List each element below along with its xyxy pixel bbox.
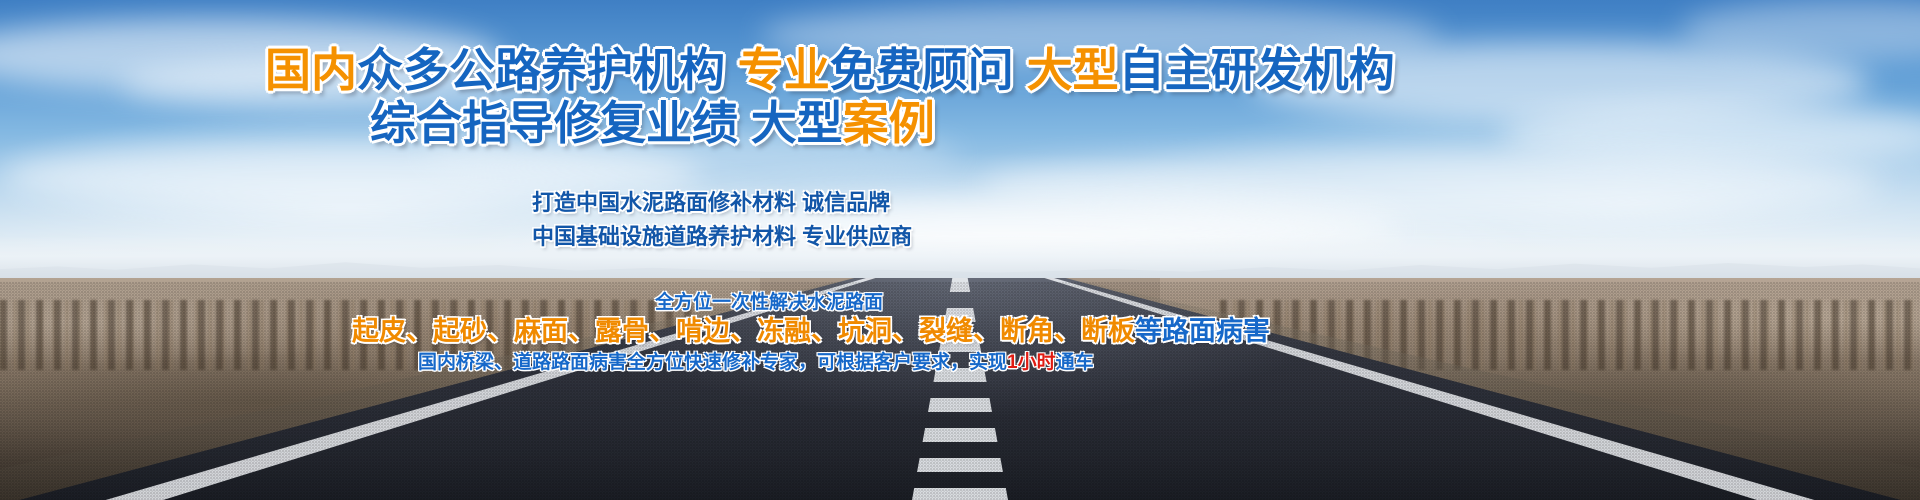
bottom-line-2: 起皮、起砂、麻面、露骨、啃边、冻融、坑洞、裂缝、断角、断板等路面病害 (352, 318, 1270, 345)
bottom-line-3: 国内桥梁、道路路面病害全方位快速修补专家，可根据客户要求，实现1小时通车 (418, 353, 1094, 372)
bottom-line-1: 全方位一次性解决水泥路面 (655, 293, 883, 312)
headline-line-2: 综合指导修复业绩 大型案例 (370, 100, 935, 146)
headline-gap-3 (738, 97, 751, 149)
promo-banner: 国内众多公路养护机构 专业免费顾问 大型自主研发机构 综合指导修复业绩 大型案例… (0, 0, 1920, 500)
headline-gap-1 (725, 44, 738, 96)
halftone-overlay (0, 282, 1920, 500)
headline-seg-agencies: 众多公路养护机构 (357, 44, 725, 96)
headline-line-1: 国内众多公路养护机构 专业免费顾问 大型自主研发机构 (265, 47, 1395, 93)
headline-seg-rnd-org: 自主研发机构 (1119, 44, 1395, 96)
headline-seg-guidance: 综合指导修复业绩 (370, 97, 738, 149)
defect-list: 起皮、起砂、麻面、露骨、啃边、冻融、坑洞、裂缝、断角、断板 (352, 316, 1135, 346)
subheadline-line-1: 打造中国水泥路面修补材料 诚信品牌 (532, 192, 890, 214)
headline-seg-domestic: 国内 (265, 44, 357, 96)
claim-text-suffix: 通车 (1056, 352, 1094, 373)
headline-seg-large-scale: 大型 (1027, 44, 1119, 96)
subheadline-line-2: 中国基础设施道路养护材料 专业供应商 (532, 226, 912, 248)
defect-list-suffix: 等路面病害 (1135, 316, 1270, 346)
headline-seg-large: 大型 (751, 97, 843, 149)
headline-seg-case-study: 案例 (843, 97, 935, 149)
horizon-haze (0, 236, 1920, 282)
headline-seg-free-consult: 免费顾问 (830, 44, 1014, 96)
claim-text: 国内桥梁、道路路面病害全方位快速修补专家，可根据客户要求，实现 (418, 352, 1007, 373)
headline-gap-2 (1014, 44, 1027, 96)
headline-seg-professional: 专业 (738, 44, 830, 96)
claim-highlight-time: 1小时 (1007, 352, 1056, 373)
